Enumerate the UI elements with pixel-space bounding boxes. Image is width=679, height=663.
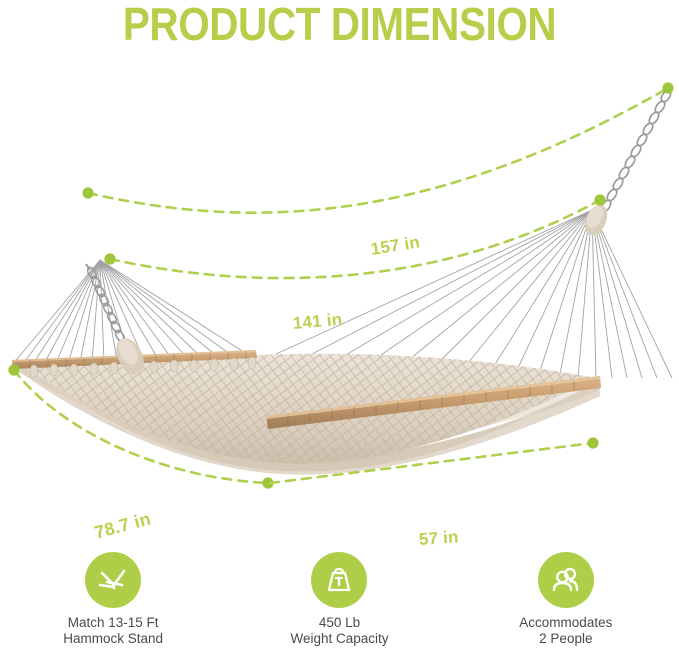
dimension-label-bed-width: 57 in	[418, 527, 459, 550]
hammock-stand-icon-circle	[85, 552, 141, 608]
feature-caption: Match 13-15 Ft Hammock Stand	[63, 615, 163, 647]
feature-caption: 450 Lb Weight Capacity	[290, 615, 388, 647]
hammock-stand-icon	[96, 563, 130, 597]
feature-weight-capacity: 450 Lb Weight Capacity	[226, 552, 452, 647]
page-title: PRODUCT DIMENSION	[41, 0, 639, 50]
feature-capacity-people: Accommodates 2 People	[453, 552, 679, 647]
feature-row: Match 13-15 Ft Hammock Stand 450 Lb Weig…	[0, 552, 679, 663]
dimension-line-141	[104, 194, 605, 278]
dimension-line-157	[82, 82, 673, 212]
feature-line-1: Accommodates	[519, 615, 612, 631]
feature-line-2: Hammock Stand	[63, 631, 163, 647]
feature-line-2: 2 People	[519, 631, 612, 647]
weight-icon-circle	[311, 552, 367, 608]
two-people-icon-circle	[538, 552, 594, 608]
product-dimension-infographic: PRODUCT DIMENSION	[0, 0, 679, 663]
feature-line-2: Weight Capacity	[290, 631, 388, 647]
rope-fan-right	[276, 210, 672, 379]
feature-caption: Accommodates 2 People	[519, 615, 612, 647]
dimension-label-hammock-length: 141 in	[292, 310, 343, 334]
feature-hammock-stand: Match 13-15 Ft Hammock Stand	[0, 552, 226, 647]
two-people-icon	[549, 563, 583, 597]
weight-icon	[322, 563, 356, 597]
feature-line-1: Match 13-15 Ft	[63, 615, 163, 631]
hammock-illustration: 157 in 141 in 78.7 in 57 in	[0, 60, 679, 530]
feature-line-1: 450 Lb	[290, 615, 388, 631]
